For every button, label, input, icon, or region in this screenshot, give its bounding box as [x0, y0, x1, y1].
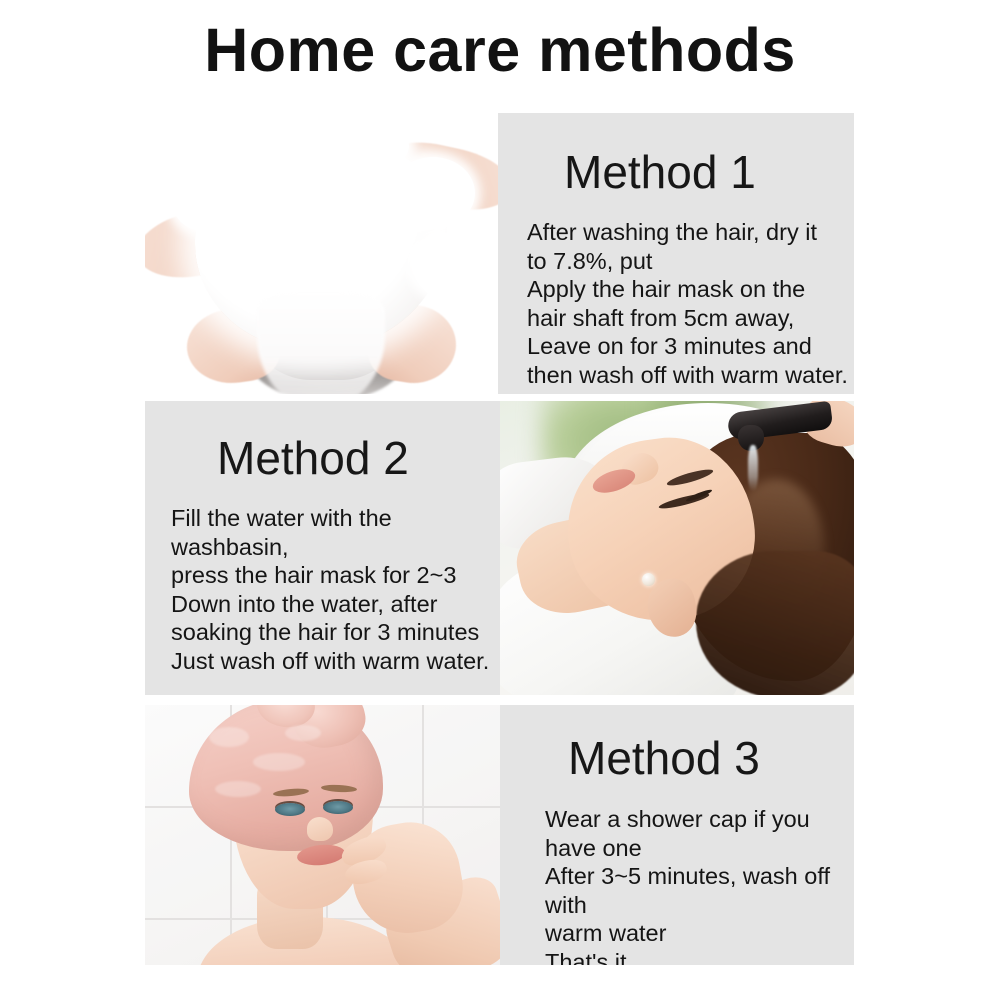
towel-texture: [285, 725, 321, 741]
method-1-body: After washing the hair, dry it to 7.8%, …: [527, 218, 854, 389]
hair-washing-foam-photo: [145, 113, 498, 394]
pink-towel-turban-photo: [145, 705, 500, 965]
towel-texture: [209, 727, 249, 747]
method-row-2: Method 2 Fill the water with the washbas…: [145, 401, 854, 695]
method-row-3: Method 3 Wear a shower cap if you have o…: [145, 705, 854, 965]
eye-left: [275, 803, 305, 816]
shampoo-scene: [145, 113, 498, 394]
methods-grid: Method 1 After washing the hair, dry it …: [145, 113, 854, 965]
foam-blob: [413, 233, 481, 299]
eye-right: [323, 801, 353, 814]
method-3-heading: Method 3: [568, 733, 760, 784]
wall-tile: [423, 705, 500, 807]
washbasin-scene: [500, 401, 854, 695]
method-3-panel: Method 3 Wear a shower cap if you have o…: [500, 705, 854, 965]
method-3-body: Wear a shower cap if you have one After …: [545, 805, 854, 965]
turban-scene: [145, 705, 500, 965]
method-2-body: Fill the water with the washbasin, press…: [171, 504, 500, 675]
foam-blob: [391, 157, 475, 229]
method-row-1: Method 1 After washing the hair, dry it …: [145, 113, 854, 394]
pearl-earring: [642, 573, 655, 586]
method-2-panel: Method 2 Fill the water with the washbas…: [145, 401, 500, 695]
towel-texture: [215, 781, 261, 797]
hair-lower: [696, 551, 854, 695]
foam-blob: [305, 117, 409, 175]
water-stream: [748, 445, 758, 491]
method-1-panel: Method 1 After washing the hair, dry it …: [498, 113, 854, 394]
foam-blob: [173, 177, 235, 231]
salon-washbasin-photo: [500, 401, 854, 695]
method-1-heading: Method 1: [564, 147, 756, 198]
towel-texture: [253, 753, 305, 771]
nose: [307, 817, 333, 841]
foam-drip: [257, 291, 385, 394]
method-2-heading: Method 2: [217, 433, 409, 484]
page-title: Home care methods: [0, 18, 1000, 82]
